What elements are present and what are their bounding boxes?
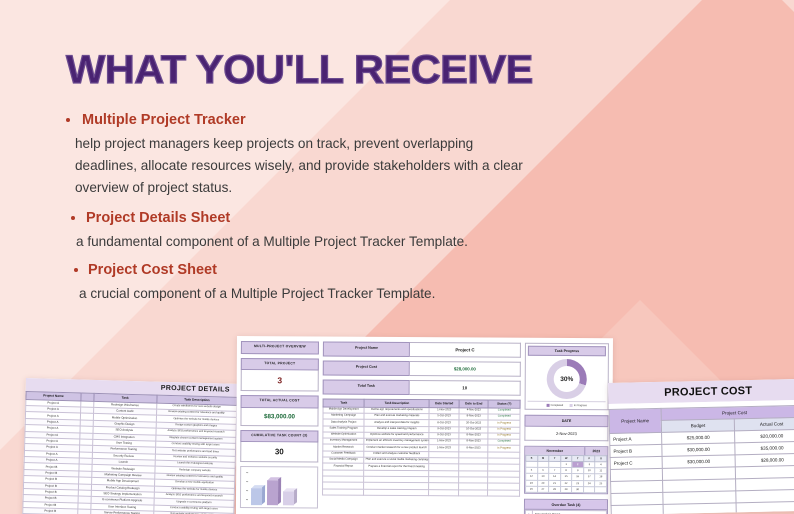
legend-swatch-icon [546, 403, 549, 406]
overview-banner: MULTI-PROJECT OVERVIEW [241, 341, 319, 354]
field-project-cost-value: $28,000.00 [410, 361, 521, 377]
bullet-dot-icon: • [525, 511, 532, 514]
table-cell [429, 489, 459, 495]
calendar-year-label[interactable]: 2023 [585, 447, 607, 455]
feature-heading-label: Project Cost Sheet [88, 262, 217, 278]
column-header-status: Status (?) [489, 400, 521, 408]
calendar-day[interactable]: 29 [560, 486, 572, 492]
feature-heading-label: Project Details Sheet [86, 210, 230, 226]
table-row [323, 489, 520, 497]
calendar-day-empty [583, 487, 595, 493]
chart-bars [248, 470, 315, 505]
field-project-name-value[interactable]: Project C [410, 342, 521, 358]
list-item: Multiple Project Tracker help project ma… [62, 112, 532, 199]
table-cell: Project B [610, 445, 662, 458]
bullet-dot-icon [74, 268, 78, 272]
feature-heading-project-cost-sheet: Project Cost Sheet [62, 262, 532, 278]
project-details-sheet-preview[interactable]: PROJECT DETAILS Project Name Task Task D… [22, 378, 238, 514]
bar-project-a [251, 488, 262, 505]
list-item: •Data Analysis Project [525, 511, 606, 514]
calendar-day[interactable]: 26 [526, 486, 538, 492]
kpi-total-actual-cost-label: TOTAL ACTUAL COST [241, 395, 319, 408]
table-cell: Server Performance Testing [90, 509, 153, 514]
field-total-task: Total Task 10 [323, 380, 521, 396]
field-project-name-label: Project Name [323, 342, 410, 358]
project-cost-sheet-preview[interactable]: PROJECT COST Project Name Project Cost B… [608, 379, 794, 514]
project-cost-table: Project Name Project Cost Budget Actual … [609, 405, 794, 514]
table-cell [611, 481, 663, 494]
task-progress-title: Task Progress [528, 346, 606, 356]
overdue-task-table: •Data Analysis Project•Sales Training Pr… [524, 510, 606, 514]
legend-label: In Progress [574, 404, 587, 407]
table-cell [488, 490, 520, 496]
table-cell [610, 469, 662, 482]
legend-item-completed: Completed [546, 403, 563, 406]
table-cell: Project A [610, 432, 662, 445]
task-progress-donut-chart: 30% [547, 359, 587, 399]
overview-banner-label: MULTI-PROJECT OVERVIEW [241, 341, 319, 354]
calendar-widget[interactable]: November 2023 SMTWTFS 123456789101112131… [524, 445, 608, 494]
feature-heading-multiple-project-tracker: Multiple Project Tracker [62, 112, 532, 128]
table-cell [323, 489, 364, 496]
chart-y-axis [243, 470, 248, 503]
task-table-body: Mobile App DevelopmentDefine app require… [323, 407, 521, 496]
table-cell [611, 505, 663, 514]
kpi-total-actual-cost-value: $83,000.00 [240, 408, 318, 426]
calendar-month-label[interactable]: November [525, 446, 585, 454]
project-detail-column: Project Name Project C Project Cost $28,… [322, 342, 521, 514]
kpi-cumulative-task-count-value: 30 [240, 442, 318, 462]
task-progress-legend: Completed In Progress [528, 401, 606, 407]
calendar-grid[interactable]: SMTWTFS 12345678910111213141516171819202… [525, 454, 607, 493]
cumulative-task-bar-chart [240, 466, 318, 508]
table-cell: Project B [23, 508, 78, 514]
kpi-total-project: TOTAL PROJECT 3 [241, 358, 319, 392]
feature-list: Multiple Project Tracker help project ma… [62, 112, 532, 316]
legend-item-in-progress: In Progress [569, 404, 587, 407]
project-cost-body: Project A$25,000.00$20,000.00Project B$3… [610, 429, 794, 514]
field-project-cost-label: Project Cost [323, 361, 410, 377]
list-item: Project Cost Sheet a crucial component o… [62, 262, 532, 305]
multi-project-overview-preview[interactable]: MULTI-PROJECT OVERVIEW TOTAL PROJECT 3 T… [236, 336, 613, 514]
project-details-table: Project Name Task Task Description Proje… [22, 391, 238, 514]
feature-body-project-cost-sheet: a crucial component of a Multiple Projec… [62, 283, 532, 305]
overdue-task-panel: Overdue Task (4) •Data Analysis Project•… [523, 499, 608, 514]
table-cell [611, 493, 663, 506]
date-field[interactable]: DATE 2-Nov-2023 [524, 414, 608, 441]
kpi-total-actual-cost: TOTAL ACTUAL COST $83,000.00 [240, 395, 318, 426]
table-cell [458, 489, 488, 495]
task-table: Task Task Description Date Started Date … [322, 399, 521, 497]
kpi-cumulative-task-count: CUMULATIVE TASK COUNT (3) 30 [240, 430, 318, 463]
field-project-name[interactable]: Project Name Project C [323, 342, 521, 358]
calendar-day[interactable]: 27 [537, 486, 549, 492]
column-header-date-started: Date Started [429, 400, 459, 408]
table-cell [364, 489, 429, 496]
calendar-day-empty [595, 487, 607, 493]
date-field-value[interactable]: 2-Nov-2023 [524, 426, 608, 441]
calendar-day[interactable]: 30 [572, 487, 584, 493]
feature-heading-project-details-sheet: Project Details Sheet [62, 210, 532, 226]
page-title: WHAT YOU'LL RECEIVE [66, 50, 533, 90]
feature-body-project-details-sheet: a fundamental component of a Multiple Pr… [62, 231, 532, 253]
task-progress-percent: 30% [547, 359, 587, 399]
field-total-task-label: Total Task [323, 380, 410, 396]
task-progress-card: Task Progress 30% Completed In Progress [525, 343, 609, 410]
calendar-days[interactable]: 1234567891011121314151617181920212223242… [526, 461, 607, 493]
bar-project-c [283, 491, 294, 505]
legend-label: Completed [551, 403, 564, 406]
feature-heading-label: Multiple Project Tracker [82, 112, 246, 128]
status-column: Task Progress 30% Completed In Progress [524, 343, 609, 514]
project-details-body: Project ARedesign WireframesCreate wiref… [22, 399, 237, 514]
kpi-cumulative-task-count-label: CUMULATIVE TASK COUNT (3) [240, 430, 318, 443]
date-field-label: DATE [524, 414, 608, 427]
field-total-task-value: 10 [410, 380, 521, 396]
calendar-week-row: 2627282930 [526, 486, 607, 493]
kpi-total-project-label: TOTAL PROJECT [241, 358, 319, 371]
table-cell: Project C [610, 457, 662, 470]
table-cell [663, 503, 737, 514]
feature-body-multiple-project-tracker: help project managers keep projects on t… [62, 133, 532, 199]
legend-swatch-icon [569, 404, 572, 407]
bullet-dot-icon [66, 118, 70, 122]
list-item: Project Details Sheet a fundamental comp… [62, 210, 532, 253]
kpi-column: MULTI-PROJECT OVERVIEW TOTAL PROJECT 3 T… [240, 341, 319, 514]
bullet-dot-icon [71, 216, 75, 220]
bar-project-b [267, 480, 278, 505]
table-cell [78, 509, 91, 514]
overdue-task-title: Overdue Task (4) [525, 500, 607, 511]
column-header-project-name: Project Name [609, 408, 661, 433]
kpi-total-project-value: 3 [241, 370, 319, 391]
column-header-date-to-end: Date to End [459, 400, 489, 408]
overdue-task-list: •Data Analysis Project•Sales Training Pr… [525, 511, 606, 514]
field-project-cost: Project Cost $28,000.00 [323, 361, 521, 377]
calendar-day[interactable]: 28 [549, 486, 561, 492]
